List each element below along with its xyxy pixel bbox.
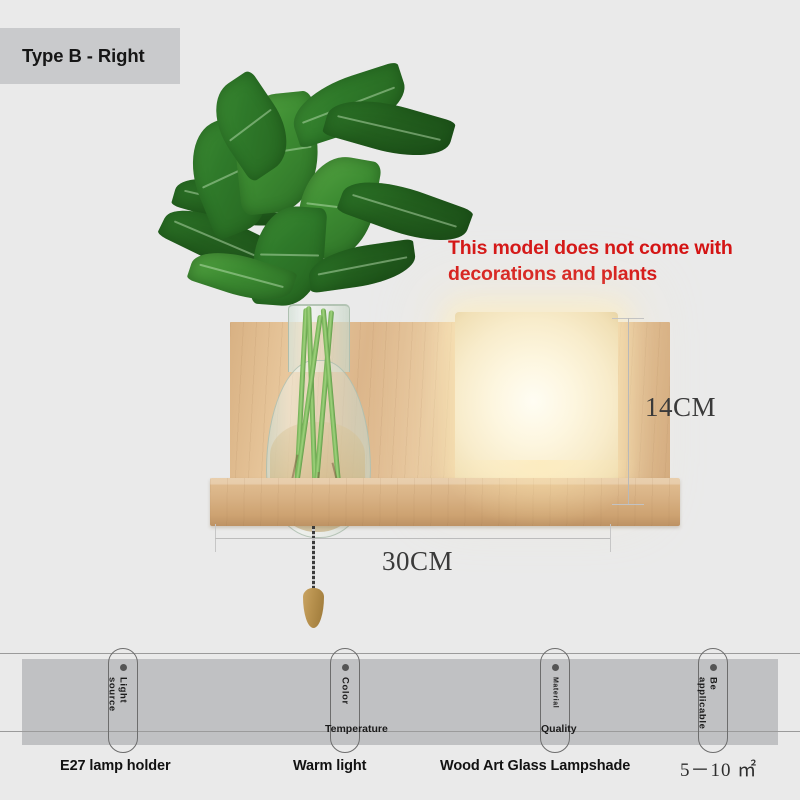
feature-tag-label-top: Color: [340, 677, 351, 705]
bullet-dot-icon: [710, 664, 717, 671]
feature-tag-material-quality: Material Quality: [540, 648, 570, 753]
feature-tag-be-applicable: Be applicable: [698, 648, 728, 753]
feature-tag-label-bottom: source: [107, 677, 118, 712]
bullet-dot-icon: [120, 664, 127, 671]
feature-tag-label-bottom: Temperature: [325, 723, 388, 735]
bullet-dot-icon: [342, 664, 349, 671]
width-dimension-line: [215, 538, 611, 539]
feature-tag-label-bottom: Quality: [541, 723, 577, 735]
height-dimension-label: 14CM: [645, 392, 716, 423]
feature-tag-color-temperature: Color Temperature: [330, 648, 360, 753]
feature-captions: E27 lamp holder Warm light Wood Art Glas…: [0, 758, 800, 794]
pull-chain-knob[interactable]: [303, 588, 324, 628]
feature-tag-label-top: Light: [118, 677, 129, 703]
width-tick-right: [610, 524, 611, 552]
wooden-shelf-plank: [210, 478, 680, 526]
feature-caption-light-source: E27 lamp holder: [60, 758, 171, 774]
product-photo: [150, 60, 650, 580]
feature-caption-be-applicable: 5－10 ㎡: [680, 755, 757, 782]
feature-tag-label-bottom: applicable: [697, 677, 708, 729]
pull-chain[interactable]: [312, 526, 315, 590]
height-tick-bottom: [612, 504, 644, 505]
feature-caption-color-temperature: Warm light: [293, 758, 366, 774]
glass-lampshade: [455, 312, 618, 484]
product-spec-image: Type B - Right This model does not come …: [0, 0, 800, 800]
feature-tag-label-top: Be: [708, 677, 719, 690]
feature-band: Light source Color Temperature Material …: [0, 653, 800, 749]
feature-tag-label-top: Material: [552, 677, 559, 708]
width-dimension-label: 30CM: [382, 546, 453, 577]
bullet-dot-icon: [552, 664, 559, 671]
variant-title-label: Type B - Right: [22, 45, 145, 67]
feature-tag-light-source: Light source: [108, 648, 138, 753]
height-dimension-line: [628, 318, 629, 504]
feature-caption-material-quality: Wood Art Glass Lampshade: [440, 758, 630, 774]
